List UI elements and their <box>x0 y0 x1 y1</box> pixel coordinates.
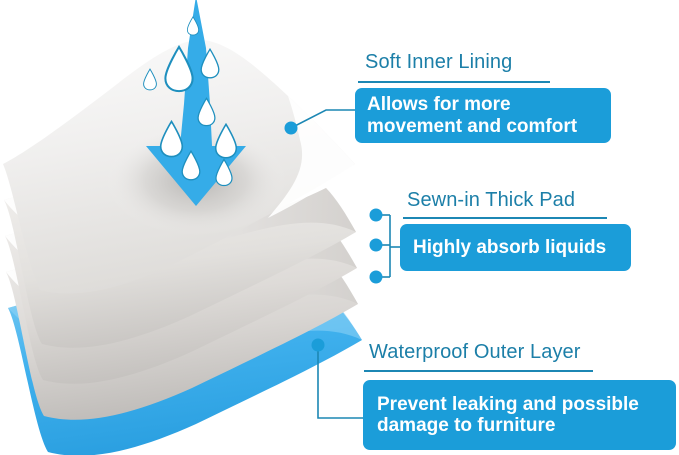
callout-box-waterproof-outer-layer: Prevent leaking and possible damage to f… <box>363 380 676 450</box>
callout-title-soft-inner-lining: Soft Inner Lining <box>365 52 512 72</box>
callout-body-line: damage to furniture <box>377 415 639 436</box>
product-feature-infographic: Soft Inner Lining Allows for more moveme… <box>0 0 679 455</box>
callout-rule-soft-inner-lining <box>358 81 550 83</box>
callout-body-line: movement and comfort <box>367 116 577 137</box>
callout-body-line: Prevent leaking and possible <box>377 394 639 415</box>
callout-box-sewn-in-thick-pad: Highly absorb liquids <box>400 224 631 271</box>
callout-body-line: Highly absorb liquids <box>413 237 606 258</box>
callout-box-soft-inner-lining: Allows for more movement and comfort <box>355 88 611 143</box>
layered-pad-illustration <box>0 0 400 455</box>
callout-title-waterproof-outer-layer: Waterproof Outer Layer <box>369 342 581 362</box>
callout-title-sewn-in-thick-pad: Sewn-in Thick Pad <box>407 190 575 210</box>
callout-rule-sewn-in-thick-pad <box>403 217 607 219</box>
callout-body-line: Allows for more <box>367 94 577 115</box>
callout-rule-waterproof-outer-layer <box>364 370 593 372</box>
